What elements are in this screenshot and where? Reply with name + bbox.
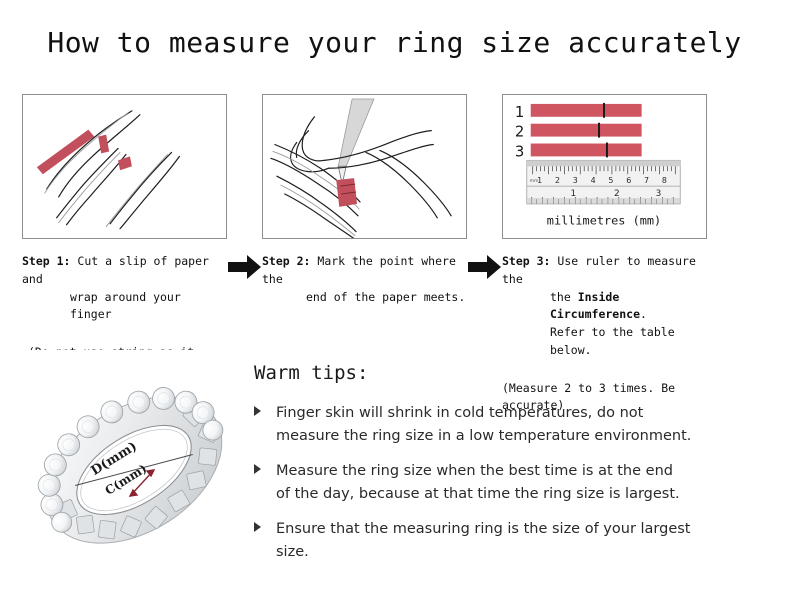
hand-with-paper-slip-illustration — [23, 95, 226, 239]
ruler-cm-tick-4: 4 — [591, 176, 596, 185]
strip-label-1: 1 — [515, 103, 524, 121]
step-1-panel — [22, 94, 227, 239]
strip-label-3: 3 — [515, 142, 524, 160]
step-3-lead: Step 3: — [502, 254, 550, 268]
ruler-measurement-illustration: 1 2 3 — [503, 95, 706, 239]
arrow-right-icon-1 — [228, 254, 262, 280]
step-3-panel: 1 2 3 — [502, 94, 707, 239]
ruler-icon: 1 2 3 4 5 6 7 8 mm 1 2 — [527, 160, 680, 204]
tip-3-line-1: Ensure that the measuring ring is the si… — [276, 518, 769, 541]
ruler-cm-tick-8: 8 — [662, 176, 667, 185]
steps-row: Step 1: Cut a slip of paper and wrap aro… — [0, 94, 789, 339]
ruler-cm-tick-6: 6 — [626, 176, 631, 185]
tip-item-2: Measure the ring size when the best time… — [254, 460, 769, 507]
tip-2-line-2: of the day, because at that time the rin… — [276, 483, 769, 506]
step-1-line2: wrap around your finger — [22, 289, 227, 325]
ruler-cm-tick-2: 2 — [555, 176, 560, 185]
measuring-strip-1 — [531, 103, 642, 118]
step-2-column: Step 2: Mark the point where the end of … — [262, 94, 467, 306]
ring-diagram: D(mm) C(mm) — [18, 350, 250, 585]
page-title: How to measure your ring size accurately — [0, 26, 789, 59]
step-1-column: Step 1: Cut a slip of paper and wrap aro… — [22, 94, 227, 379]
tip-2-line-1: Measure the ring size when the best time… — [276, 460, 769, 483]
ruler-unit-label: millimetres (mm) — [547, 214, 661, 228]
step-2-caption: Step 2: Mark the point where the end of … — [262, 253, 467, 306]
step-3-caption: Step 3: Use ruler to measure the the Ins… — [502, 253, 707, 360]
step-1-caption: Step 1: Cut a slip of paper and wrap aro… — [22, 253, 227, 324]
tip-1-line-1: Finger skin will shrink in cold temperat… — [276, 402, 769, 425]
ruler-inch-tick-3: 3 — [656, 189, 662, 199]
step-3-line3: Refer to the table below. — [502, 324, 707, 360]
ruler-cm-tick-5: 5 — [608, 176, 613, 185]
ruler-cm-tick-7: 7 — [644, 176, 649, 185]
arrow-right-icon-2 — [468, 254, 502, 280]
triangle-bullet-icon — [254, 522, 261, 532]
step-2-lead: Step 2: — [262, 254, 310, 268]
measuring-strip-3 — [531, 143, 642, 158]
ruler-mm-unit-mark: mm — [530, 179, 539, 184]
hand-marking-paper-illustration — [263, 95, 466, 239]
tip-item-1: Finger skin will shrink in cold temperat… — [254, 402, 769, 449]
warm-tips-section: Warm tips: Finger skin will shrink in co… — [254, 362, 769, 576]
tip-3-line-2: size. — [276, 541, 769, 564]
triangle-bullet-icon — [254, 464, 261, 474]
step-1-lead: Step 1: — [22, 254, 70, 268]
warm-tips-heading: Warm tips: — [254, 362, 769, 384]
tip-1-line-2: measure the ring size in a low temperatu… — [276, 425, 769, 448]
marked-paper-strip-icon — [336, 178, 357, 207]
step-2-panel — [262, 94, 467, 239]
strip-label-2: 2 — [515, 123, 524, 141]
step-3-line2: the Inside Circumference. — [502, 289, 707, 325]
step-2-line2: end of the paper meets. — [262, 289, 467, 307]
measuring-strip-2 — [531, 123, 642, 138]
ruler-cm-tick-3: 3 — [573, 176, 578, 185]
tip-item-3: Ensure that the measuring ring is the si… — [254, 518, 769, 565]
triangle-bullet-icon — [254, 406, 261, 416]
